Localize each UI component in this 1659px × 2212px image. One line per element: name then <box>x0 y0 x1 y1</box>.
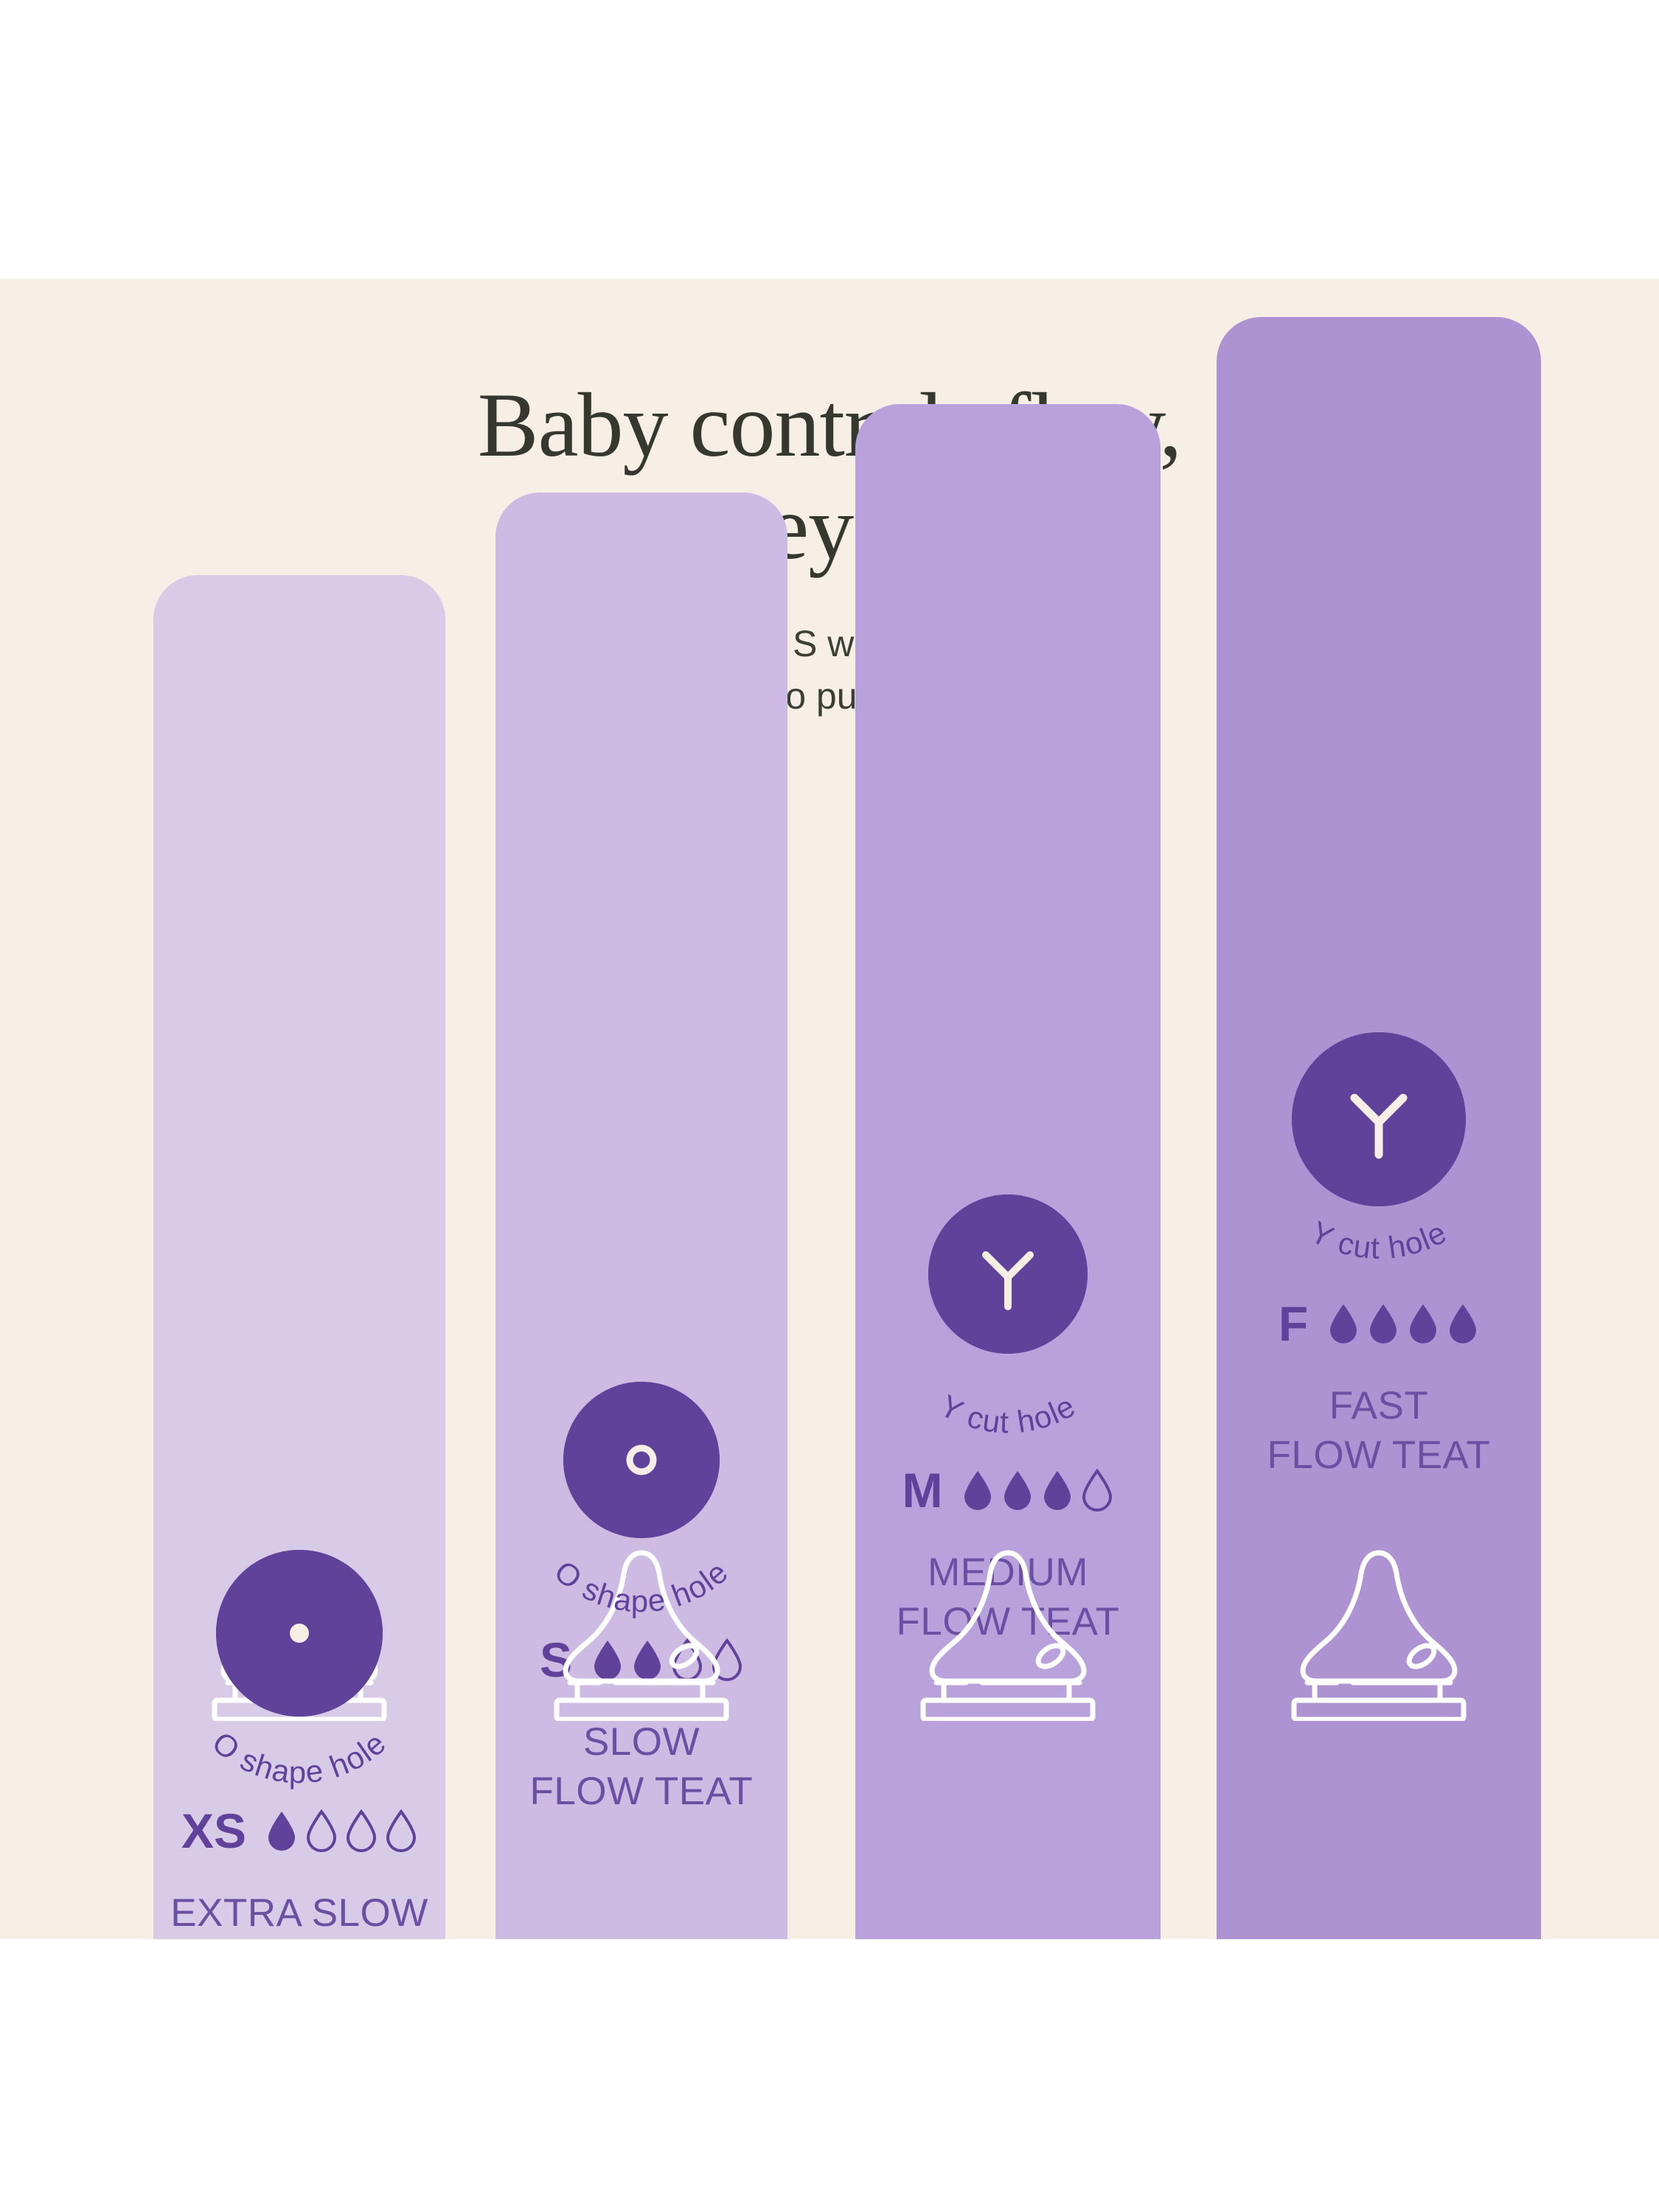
drop-rating-xs <box>265 1809 417 1852</box>
drop-empty <box>305 1809 338 1852</box>
flow-name-xs: EXTRA SLOW FLOW TEAT <box>153 1889 445 1939</box>
flow-name-line-1-xs: EXTRA SLOW <box>153 1889 445 1938</box>
size-code-xs: XS <box>181 1806 246 1855</box>
infographic-root: Baby controls flow, as they grow Include… <box>0 0 1659 2212</box>
drop-filled <box>1447 1302 1479 1345</box>
flow-name-line-2-s: FLOW TEAT <box>495 1767 787 1817</box>
flow-column-xs[interactable]: O shape hole XS <box>153 553 445 1939</box>
flow-name-line-1-f: FAST <box>1217 1382 1541 1431</box>
hole-caption-text-f: Y cut hole <box>1305 1214 1453 1265</box>
teat-illustration-f <box>1287 1544 1471 1721</box>
svg-text:Y cut hole: Y cut hole <box>1305 1214 1453 1265</box>
label-block-f: F FAST FLOW TEAT <box>1217 1299 1541 1481</box>
drop-rating-m <box>961 1469 1113 1512</box>
drop-empty <box>1081 1469 1113 1512</box>
drop-empty <box>385 1809 417 1852</box>
flow-name-f: FAST FLOW TEAT <box>1217 1382 1541 1481</box>
drop-filled <box>1327 1302 1360 1345</box>
teat-illustration-m <box>916 1544 1100 1721</box>
flow-column-f[interactable]: Y cut hole <box>1217 295 1541 1939</box>
drop-filled <box>1041 1469 1074 1512</box>
y-cut-hole-icon-f <box>1292 1032 1466 1206</box>
flow-name-line-2-xs: FLOW TEAT <box>153 1938 445 1939</box>
size-code-f: F <box>1279 1299 1308 1348</box>
hole-caption-text-m: Y cut hole <box>934 1388 1081 1439</box>
flow-column-m[interactable]: Y cut hole <box>855 383 1161 1939</box>
flow-column-s[interactable]: O shape hole S <box>495 472 787 1939</box>
size-row-m: M <box>855 1466 1161 1514</box>
drop-filled <box>1367 1302 1399 1345</box>
drop-filled <box>1407 1302 1439 1345</box>
size-row-f: F <box>1217 1299 1541 1348</box>
svg-text:O shape hole: O shape hole <box>206 1725 393 1790</box>
flow-rate-columns: O shape hole XS <box>0 279 1659 1939</box>
drop-filled <box>961 1469 994 1512</box>
hole-caption-text-s: O shape hole <box>548 1554 735 1618</box>
o-shape-hole-icon-xs <box>216 1550 383 1717</box>
drop-filled <box>265 1809 298 1852</box>
svg-text:O shape hole: O shape hole <box>548 1554 735 1618</box>
flow-name-line-1-s: SLOW <box>495 1718 787 1767</box>
drop-empty <box>345 1809 378 1852</box>
y-cut-hole-icon-m <box>928 1194 1088 1354</box>
flow-name-line-2-f: FLOW TEAT <box>1217 1431 1541 1481</box>
svg-text:Y cut hole: Y cut hole <box>934 1388 1081 1439</box>
flow-name-s: SLOW FLOW TEAT <box>495 1718 787 1817</box>
size-row-xs: XS <box>153 1806 445 1855</box>
hole-caption-text-xs: O shape hole <box>206 1725 393 1790</box>
drop-filled <box>1001 1469 1034 1512</box>
size-code-m: M <box>902 1466 943 1514</box>
drop-rating-f <box>1327 1302 1479 1345</box>
o-shape-hole-ring-icon-s <box>563 1382 720 1538</box>
cream-panel: Baby controls flow, as they grow Include… <box>0 279 1659 1939</box>
label-block-xs: XS EXTRA SLOW FLOW TEAT <box>153 1806 445 1939</box>
